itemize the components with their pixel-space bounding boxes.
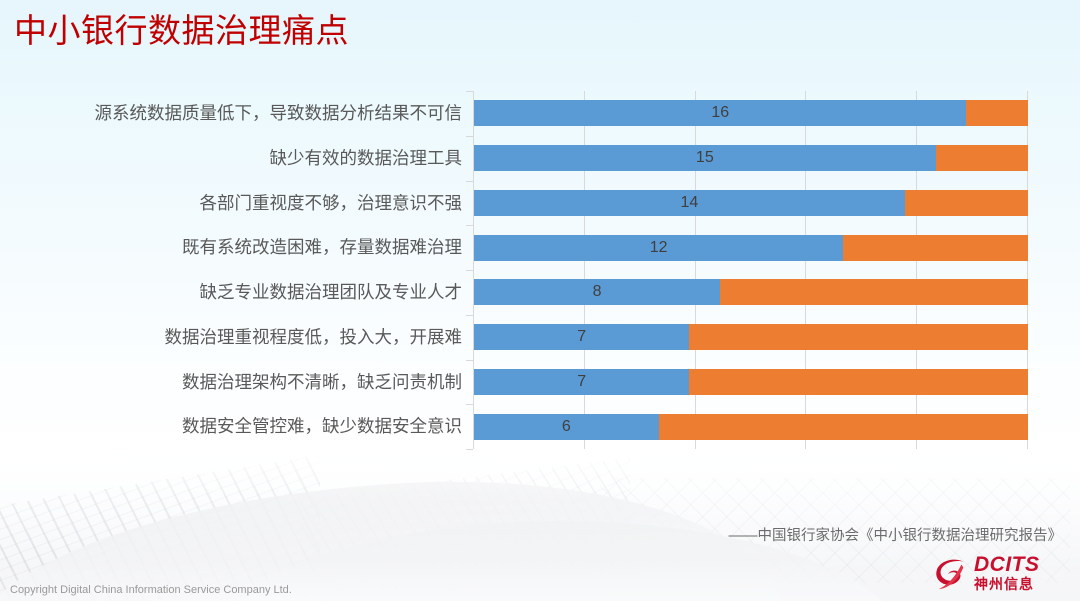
- chart-row: 数据治理架构不清晰，缺乏问责机制7: [0, 360, 1050, 405]
- category-label: 缺乏专业数据治理团队及专业人才: [200, 270, 463, 315]
- stacked-bar[interactable]: 15: [474, 145, 1028, 171]
- slide-canvas: 中小银行数据治理痛点 源系统数据质量低下，导致数据分析结果不可信16缺少有效的数…: [0, 0, 1080, 601]
- bar-segment-series-2[interactable]: [966, 100, 1028, 126]
- bar-segment-series-1[interactable]: 16: [474, 100, 966, 126]
- bar-value-label: 6: [474, 414, 659, 440]
- bar-value-label: 7: [474, 369, 689, 395]
- y-axis-tick: [466, 404, 473, 405]
- logo-chinese-text: 神州信息: [974, 576, 1066, 593]
- background-blocks: [0, 455, 320, 601]
- stacked-bar[interactable]: 12: [474, 235, 1028, 261]
- bar-value-label: 7: [474, 324, 689, 350]
- category-label: 数据治理架构不清晰，缺乏问责机制: [182, 360, 462, 405]
- category-label: 源系统数据质量低下，导致数据分析结果不可信: [95, 91, 463, 136]
- bar-segment-series-2[interactable]: [689, 369, 1028, 395]
- y-axis-tick: [466, 360, 473, 361]
- category-label: 缺少有效的数据治理工具: [270, 136, 463, 181]
- bar-segment-series-2[interactable]: [689, 324, 1028, 350]
- bar-segment-series-2[interactable]: [936, 145, 1028, 171]
- bar-value-label: 8: [474, 279, 720, 305]
- page-title: 中小银行数据治理痛点: [14, 6, 349, 56]
- stacked-bar[interactable]: 7: [474, 369, 1028, 395]
- chart-row: 各部门重视度不够，治理意识不强14: [0, 181, 1050, 226]
- bar-segment-series-1[interactable]: 12: [474, 235, 843, 261]
- bar-segment-series-1[interactable]: 15: [474, 145, 936, 171]
- chart-row: 源系统数据质量低下，导致数据分析结果不可信16: [0, 91, 1050, 136]
- stacked-bar-chart: 源系统数据质量低下，导致数据分析结果不可信16缺少有效的数据治理工具15各部门重…: [0, 78, 1050, 468]
- chart-rows: 源系统数据质量低下，导致数据分析结果不可信16缺少有效的数据治理工具15各部门重…: [0, 91, 1050, 449]
- bar-segment-series-1[interactable]: 7: [474, 324, 689, 350]
- background-wave-left: [0, 464, 783, 601]
- bar-segment-series-1[interactable]: 7: [474, 369, 689, 395]
- chart-row: 数据治理重视程度低，投入大，开展难7: [0, 315, 1050, 360]
- bar-value-label: 16: [474, 100, 966, 126]
- chart-row: 既有系统改造困难，存量数据难治理12: [0, 225, 1050, 270]
- stacked-bar[interactable]: 16: [474, 100, 1028, 126]
- y-axis-tick: [466, 315, 473, 316]
- bar-value-label: 15: [474, 145, 936, 171]
- bar-value-label: 12: [474, 235, 843, 261]
- copyright-notice: Copyright Digital China Information Serv…: [10, 584, 292, 596]
- logo-english-text: DCITS: [974, 554, 1066, 576]
- stacked-bar[interactable]: 14: [474, 190, 1028, 216]
- y-axis-tick: [466, 91, 473, 92]
- bar-segment-series-2[interactable]: [843, 235, 1028, 261]
- category-label: 数据安全管控难，缺少数据安全意识: [182, 404, 462, 449]
- category-label: 数据治理重视程度低，投入大，开展难: [165, 315, 463, 360]
- bar-segment-series-1[interactable]: 6: [474, 414, 659, 440]
- chart-row: 缺少有效的数据治理工具15: [0, 136, 1050, 181]
- chart-row: 数据安全管控难，缺少数据安全意识6: [0, 404, 1050, 449]
- bar-segment-series-2[interactable]: [659, 414, 1028, 440]
- category-label: 各部门重视度不够，治理意识不强: [200, 181, 463, 226]
- source-attribution: ——中国银行家协会《中小银行数据治理研究报告》: [729, 524, 1063, 545]
- y-axis-tick: [466, 270, 473, 271]
- bar-segment-series-2[interactable]: [905, 190, 1028, 216]
- y-axis-tick: [466, 181, 473, 182]
- chart-row: 缺乏专业数据治理团队及专业人才8: [0, 270, 1050, 315]
- y-axis-tick: [466, 136, 473, 137]
- bar-segment-series-2[interactable]: [720, 279, 1028, 305]
- y-axis-tick: [466, 449, 473, 450]
- dcits-swoosh-icon: [932, 556, 970, 592]
- logo-text: DCITS 神州信息: [974, 554, 1066, 593]
- y-axis-tick: [466, 225, 473, 226]
- stacked-bar[interactable]: 8: [474, 279, 1028, 305]
- dcits-logo: DCITS 神州信息: [930, 552, 1068, 596]
- bar-segment-series-1[interactable]: 14: [474, 190, 905, 216]
- stacked-bar[interactable]: 6: [474, 414, 1028, 440]
- bar-segment-series-1[interactable]: 8: [474, 279, 720, 305]
- background-lattice-mid: [300, 458, 630, 601]
- category-label: 既有系统改造困难，存量数据难治理: [182, 225, 462, 270]
- stacked-bar[interactable]: 7: [474, 324, 1028, 350]
- bar-value-label: 14: [474, 190, 905, 216]
